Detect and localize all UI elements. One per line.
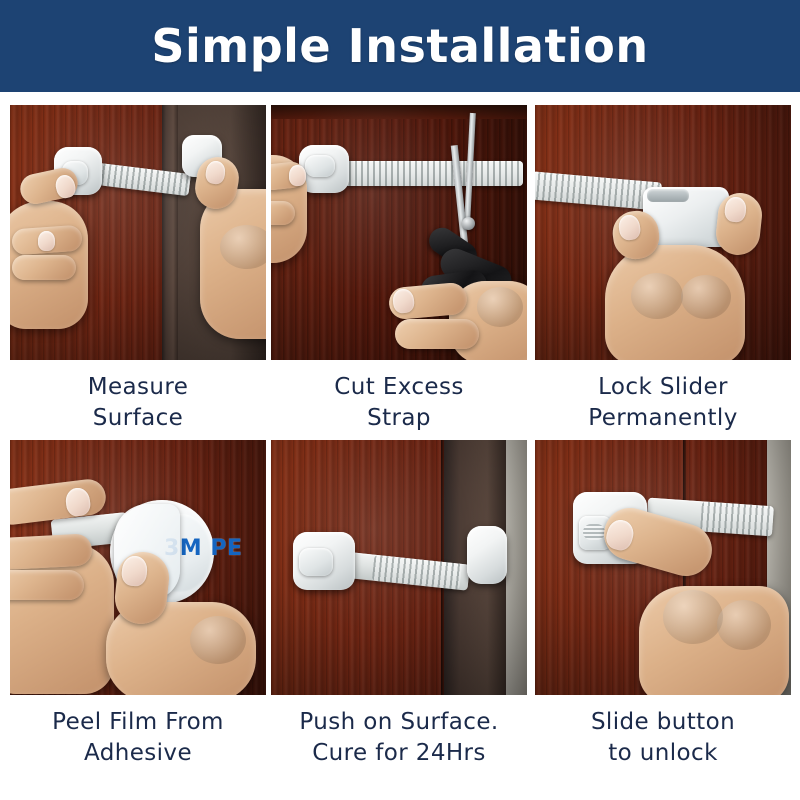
step-card-3: Lock Slider Permanently xyxy=(535,105,791,434)
caption-line-2: Permanently xyxy=(535,403,791,434)
caption-line-1: Slide button xyxy=(535,707,791,738)
step-card-6: Slide button to unlock xyxy=(535,440,791,769)
lock-release-button xyxy=(305,155,335,177)
step-caption-5: Push on Surface. Cure for 24Hrs xyxy=(271,707,527,769)
slider-latch xyxy=(647,189,689,202)
header-banner: Simple Installation xyxy=(0,0,800,92)
infographic-page: Simple Installation xyxy=(0,0,800,800)
button-grip-texture xyxy=(583,524,605,540)
step-card-5: Push on Surface. Cure for 24Hrs xyxy=(271,440,527,769)
step-photo-3 xyxy=(535,105,791,360)
caption-line-1: Push on Surface. xyxy=(271,707,527,738)
step-photo-5 xyxy=(271,440,527,695)
caption-line-1: Peel Film From xyxy=(10,707,266,738)
step-photo-2 xyxy=(271,105,527,360)
caption-line-2: to unlock xyxy=(535,738,791,769)
lock-anchor xyxy=(467,526,507,584)
lock-release-button xyxy=(299,548,333,576)
caption-line-2: Adhesive xyxy=(10,738,266,769)
page-title: Simple Installation xyxy=(151,19,648,73)
strap-ribs xyxy=(343,161,523,186)
step-caption-3: Lock Slider Permanently xyxy=(535,372,791,434)
step-photo-6 xyxy=(535,440,791,695)
steps-grid: Measure Surface xyxy=(0,96,800,800)
caption-line-2: Strap xyxy=(271,403,527,434)
fingernail xyxy=(289,165,306,186)
scissor-pivot xyxy=(462,217,475,230)
step-card-2: Cut Excess Strap xyxy=(271,105,527,434)
step-caption-6: Slide button to unlock xyxy=(535,707,791,769)
step-caption-2: Cut Excess Strap xyxy=(271,372,527,434)
strap-ribs xyxy=(700,501,774,536)
step-card-1: Measure Surface xyxy=(10,105,266,434)
caption-line-1: Measure xyxy=(10,372,266,403)
step-caption-4: Peel Film From Adhesive xyxy=(10,707,266,769)
fingernail xyxy=(38,231,55,251)
caption-line-2: Surface xyxy=(10,403,266,434)
caption-line-1: Cut Excess xyxy=(271,372,527,403)
step-card-4: 3M PE Peel Fil xyxy=(10,440,266,769)
step-caption-1: Measure Surface xyxy=(10,372,266,434)
caption-line-2: Cure for 24Hrs xyxy=(271,738,527,769)
step-photo-4: 3M PE xyxy=(10,440,266,695)
caption-line-1: Lock Slider xyxy=(535,372,791,403)
step-photo-1 xyxy=(10,105,266,360)
